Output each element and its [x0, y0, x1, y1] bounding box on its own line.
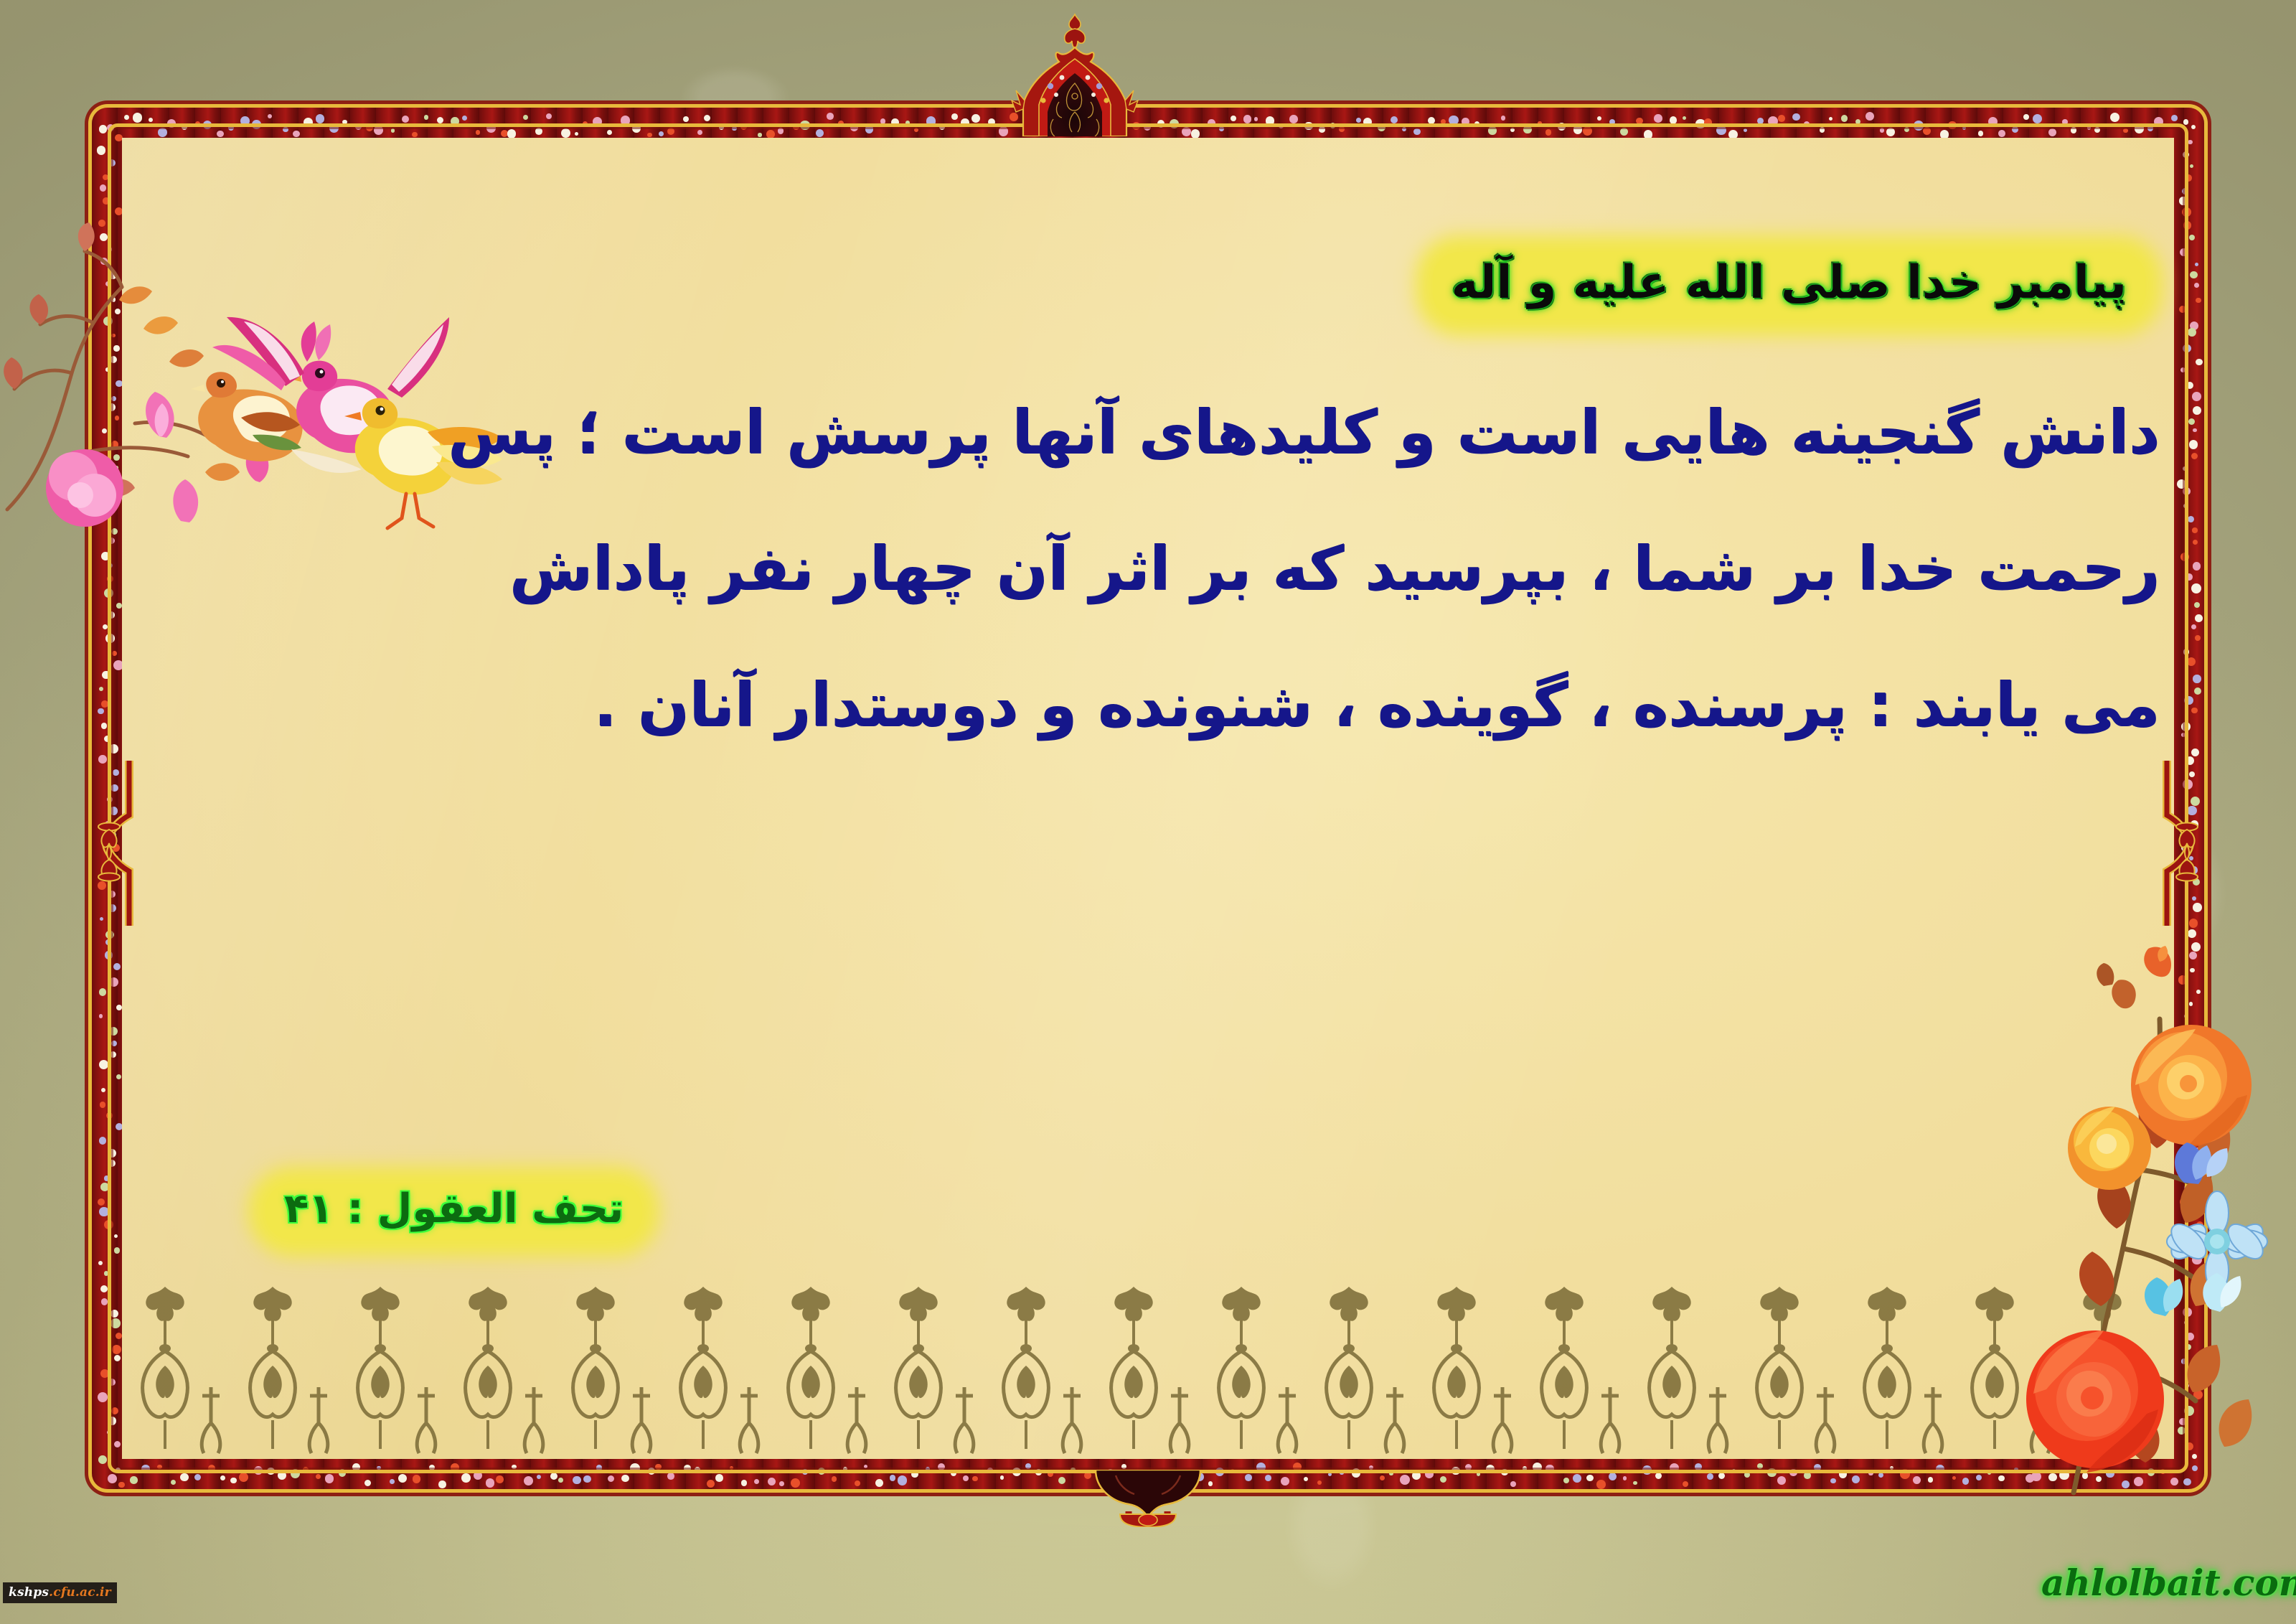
source-label: تحف العقول : ۴۱ [284, 1186, 624, 1232]
bottom-tassel-ornament-icon [1087, 1470, 1209, 1527]
source-highlight: تحف العقول : ۴۱ [265, 1184, 642, 1239]
speaker-attribution: پیامبر خدا صلی الله علیه و آله [1433, 253, 2145, 319]
card-sheen [122, 138, 2174, 1459]
hadith-card [122, 138, 2174, 1459]
arabesque-bottom-strip-icon [122, 1280, 2174, 1459]
corner-watermark-prefix: kshps [9, 1585, 49, 1600]
left-side-ornament-icon [88, 761, 138, 926]
hadith-line-1: دانش گنجینه هایی است و کلیدهای آنها پرسش… [136, 402, 2160, 462]
source-citation: تحف العقول : ۴۱ [265, 1184, 642, 1239]
corner-watermark: kshps.cfu.ac.ir [3, 1582, 117, 1603]
right-side-ornament-icon [2158, 761, 2208, 926]
speaker-label: پیامبر خدا صلی الله علیه و آله [1452, 256, 2127, 309]
corner-watermark-suffix: .cfu.ac.ir [49, 1585, 111, 1600]
speaker-highlight: پیامبر خدا صلی الله علیه و آله [1433, 253, 2145, 319]
persian-crown-ornament-icon [1002, 11, 1148, 136]
hadith-line-3: می یابند : پرسنده ، گوینده ، شنونده و دو… [136, 675, 2160, 735]
hadith-line-2: رحمت خدا بر شما ، بپرسید که بر اثر آن چه… [136, 538, 2160, 599]
hadith-body: دانش گنجینه هایی است و کلیدهای آنها پرسش… [136, 402, 2160, 735]
site-watermark[interactable]: ahlolbait.com [2041, 1562, 2296, 1604]
